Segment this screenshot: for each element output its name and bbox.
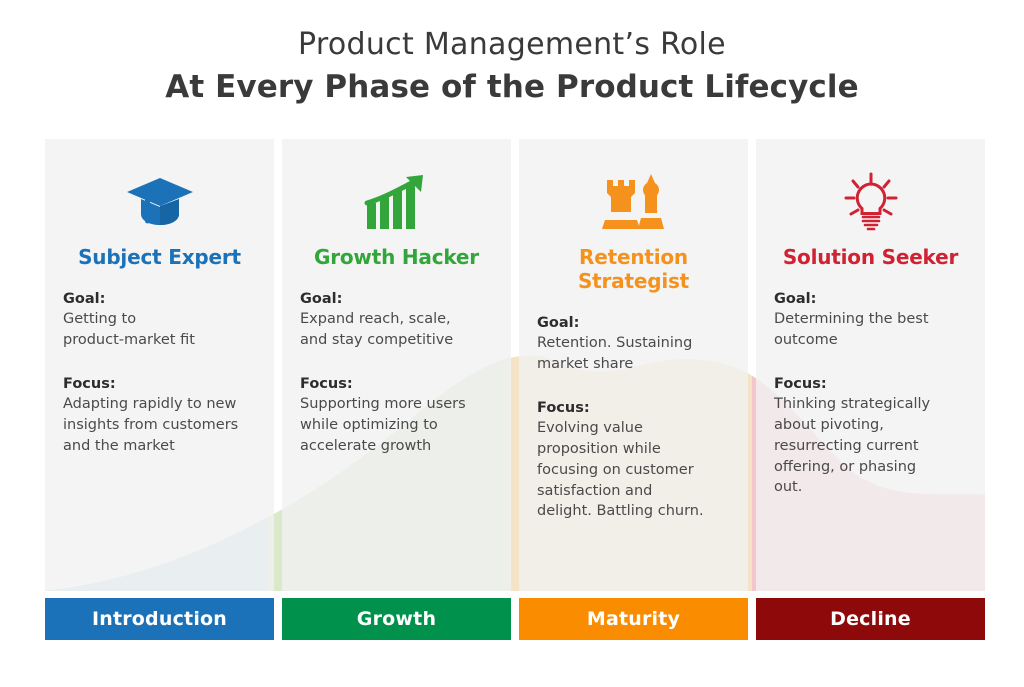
focus-text: Thinking strategically about pivoting, r… — [774, 394, 967, 498]
goal-text: Expand reach, scale, and stay competitiv… — [300, 309, 493, 350]
goal-text: Getting to product-market fit — [63, 309, 256, 350]
focus-label: Focus: — [774, 376, 967, 392]
page-title-subtitle: Product Management’s Role — [0, 26, 1024, 64]
goal-label: Goal: — [774, 291, 967, 307]
phase-column-growth[interactable]: Growth Hacker Goal: Expand reach, scale,… — [282, 139, 511, 591]
focus-text: Evolving value proposition while focusin… — [537, 418, 730, 522]
focus-block: Focus: Thinking strategically about pivo… — [774, 376, 967, 498]
phase-bar-label: Decline — [830, 608, 911, 630]
lifecycle-board: Subject Expert Goal: Getting to product-… — [45, 139, 985, 591]
lightbulb-idea-icon — [774, 167, 967, 237]
focus-block: Focus: Evolving value proposition while … — [537, 400, 730, 522]
goal-label: Goal: — [300, 291, 493, 307]
phase-columns: Subject Expert Goal: Getting to product-… — [45, 139, 985, 591]
page-title: At Every Phase of the Product Lifecycle — [0, 67, 1024, 108]
goal-block: Goal: Determining the best outcome — [774, 291, 967, 350]
phase-column-introduction[interactable]: Subject Expert Goal: Getting to product-… — [45, 139, 274, 591]
graduation-cap-icon — [63, 167, 256, 237]
focus-label: Focus: — [300, 376, 493, 392]
focus-text: Adapting rapidly to new insights from cu… — [63, 394, 256, 456]
goal-block: Goal: Retention. Sustaining market share — [537, 315, 730, 374]
role-title-growth-hacker: Growth Hacker — [300, 245, 493, 269]
phase-bar-label: Introduction — [92, 608, 227, 630]
focus-text: Supporting more users while optimizing t… — [300, 394, 493, 456]
focus-label: Focus: — [63, 376, 256, 392]
goal-text: Determining the best outcome — [774, 309, 967, 350]
role-title-subject-expert: Subject Expert — [63, 245, 256, 269]
goal-label: Goal: — [63, 291, 256, 307]
goal-text: Retention. Sustaining market share — [537, 333, 730, 374]
role-title-solution-seeker: Solution Seeker — [774, 245, 967, 269]
lifecycle-phase-bars: Introduction Growth Maturity Decline — [45, 598, 985, 640]
phase-bar-decline[interactable]: Decline — [756, 598, 985, 640]
focus-block: Focus: Adapting rapidly to new insights … — [63, 376, 256, 456]
phase-bar-maturity[interactable]: Maturity — [519, 598, 748, 640]
focus-label: Focus: — [537, 400, 730, 416]
chess-pieces-icon — [537, 167, 730, 237]
goal-block: Goal: Expand reach, scale, and stay comp… — [300, 291, 493, 350]
phase-column-decline[interactable]: Solution Seeker Goal: Determining the be… — [756, 139, 985, 591]
goal-block: Goal: Getting to product-market fit — [63, 291, 256, 350]
page-header: Product Management’s Role At Every Phase… — [0, 0, 1024, 108]
role-title-retention-strategist: Retention Strategist — [537, 245, 730, 293]
phase-bar-label: Maturity — [587, 608, 680, 630]
phase-bar-label: Growth — [357, 608, 436, 630]
focus-block: Focus: Supporting more users while optim… — [300, 376, 493, 456]
phase-column-maturity[interactable]: Retention Strategist Goal: Retention. Su… — [519, 139, 748, 591]
phase-bar-introduction[interactable]: Introduction — [45, 598, 274, 640]
bar-chart-growth-icon — [300, 167, 493, 237]
phase-bar-growth[interactable]: Growth — [282, 598, 511, 640]
goal-label: Goal: — [537, 315, 730, 331]
